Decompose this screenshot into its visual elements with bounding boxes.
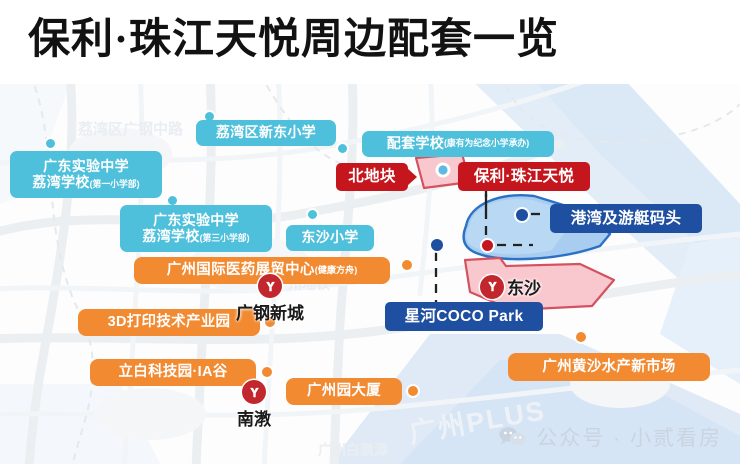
- poi-dot-blue-5: [338, 144, 347, 153]
- label-3d-printing-industrial-park[interactable]: 3D打印技术产业园: [78, 309, 260, 336]
- label-text-line2: 荔湾学校(第一小学部): [32, 175, 139, 191]
- label-subtext: (康有为纪念小学承办): [444, 139, 529, 149]
- label-text-line1: 广东实验中学: [43, 159, 129, 175]
- poi-dot-orange-3: [262, 367, 272, 377]
- label-north-parcel[interactable]: 北地块: [336, 163, 408, 191]
- label-poly-pearl-river-tianyue[interactable]: 保利·珠江天悦: [458, 162, 590, 191]
- poi-dot-site: [482, 240, 493, 251]
- label-text: 港湾及游艇码头: [571, 210, 682, 227]
- metro-logo-icon: [242, 380, 266, 404]
- label-subtext: (健康方舟): [315, 265, 358, 275]
- label-dongsha-primary-school[interactable]: 东沙小学: [286, 225, 374, 251]
- poi-dot-blue-4: [308, 210, 317, 219]
- label-text: 3D打印技术产业园: [108, 314, 231, 330]
- poi-dot-blue-1: [46, 139, 55, 148]
- map-canvas[interactable]: 荔湾区广钢中路 广州地铁 广州PLUS 广州白鹅潭 荔湾区新东小学 广东实验中学…: [0, 84, 740, 464]
- label-gdsyzx-liwan-school-p1[interactable]: 广东实验中学 荔湾学校(第一小学部): [10, 151, 162, 198]
- screenshot-root: 保利·珠江天悦周边配套一览: [0, 0, 740, 464]
- title-bar: 保利·珠江天悦周边配套一览: [0, 0, 740, 84]
- label-harbor-and-yacht-marina[interactable]: 港湾及游艇码头: [550, 204, 702, 233]
- poi-dot-orange-4: [408, 386, 418, 396]
- poi-dot-orange-1: [402, 260, 412, 270]
- watermark-text: 公众号 · 小贰看房: [536, 422, 722, 452]
- station-guanggang-new-town[interactable]: 广钢新城: [236, 274, 304, 324]
- label-gz-huangsha-seafood-market[interactable]: 广州黄沙水产新市场: [508, 353, 710, 381]
- label-liby-tech-park-ia-valley[interactable]: 立白科技园·IA谷: [90, 359, 256, 386]
- station-dongsha[interactable]: 东沙: [480, 274, 541, 299]
- label-text: 荔湾区新东小学: [216, 125, 316, 141]
- wechat-icon: [498, 425, 528, 449]
- label-galaxy-coco-park[interactable]: 星河COCO Park: [385, 302, 543, 331]
- station-label: 东沙: [507, 274, 541, 299]
- label-text: 保利·珠江天悦: [474, 168, 574, 185]
- station-label: 南漖: [237, 405, 271, 430]
- label-text: 立白科技园·IA谷: [118, 364, 227, 380]
- page-title: 保利·珠江天悦周边配套一览: [28, 12, 559, 68]
- label-text: 东沙小学: [301, 230, 358, 246]
- poi-dot-blue-3: [168, 196, 177, 205]
- label-text: 广州园大厦: [307, 383, 381, 399]
- label-text: 北地块: [348, 168, 395, 185]
- label-gdsyzx-liwan-school-p3[interactable]: 广东实验中学 荔湾学校(第三小学部): [120, 205, 272, 252]
- label-text-line1: 广东实验中学: [153, 213, 239, 229]
- poi-dot-navy-1: [431, 239, 443, 251]
- label-guangzhou-garden-building[interactable]: 广州园大厦: [286, 378, 402, 405]
- poi-dot-marina: [516, 209, 528, 221]
- label-liwan-xindong-primary-school[interactable]: 荔湾区新东小学: [196, 120, 336, 146]
- label-text: 广州黄沙水产新市场: [542, 359, 675, 375]
- label-text: 星河COCO Park: [405, 308, 524, 325]
- metro-logo-icon: [258, 274, 282, 298]
- label-supporting-school[interactable]: 配套学校(康有为纪念小学承办): [362, 131, 554, 157]
- wechat-watermark: 公众号 · 小贰看房: [498, 422, 722, 452]
- station-label: 广钢新城: [236, 299, 304, 324]
- label-text: 配套学校: [387, 136, 444, 152]
- label-text-line2: 荔湾学校(第三小学部): [142, 229, 249, 245]
- metro-logo-icon: [480, 275, 504, 299]
- poi-dot-orange-5: [576, 332, 586, 342]
- station-nanjiao[interactable]: 南漖: [237, 380, 271, 430]
